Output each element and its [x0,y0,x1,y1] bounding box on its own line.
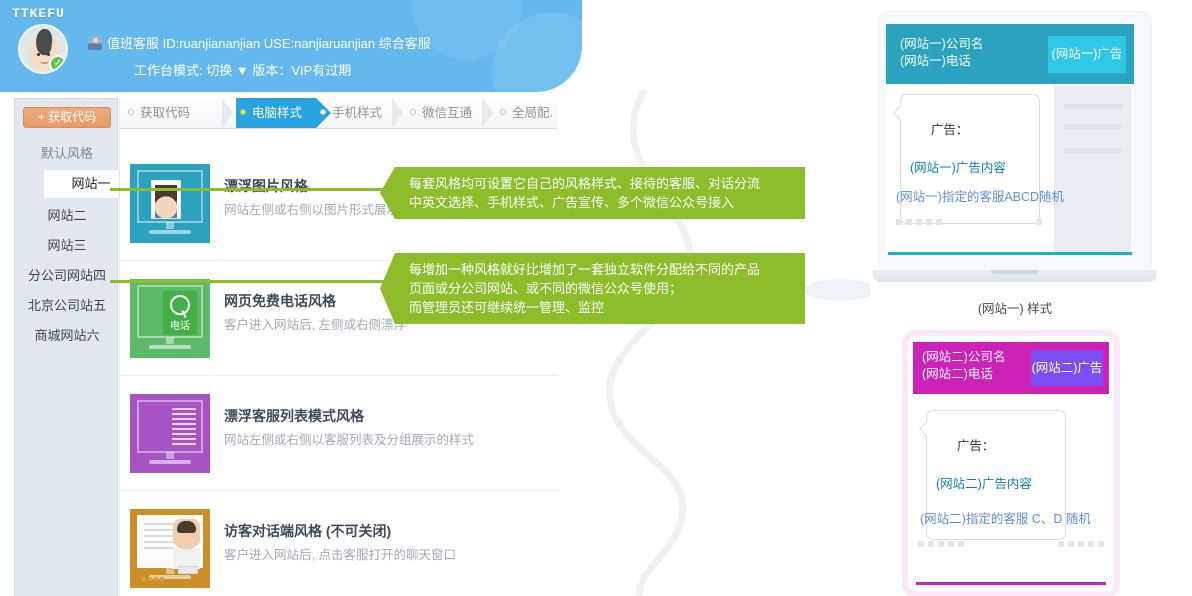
site2-bubble-body: (网站二)广告内容 [936,475,1056,494]
site2-dots-left [918,534,968,540]
preview-dots-right [1036,212,1046,218]
agent-avatar-icon [88,36,102,50]
app-logo: TTKEFU [12,6,65,21]
app-root: TTKEFU ✓ 值班客服 ID:ruanjiananjian USE:nanj… [0,0,1192,596]
tab-separator-icon [222,98,233,128]
radio-icon [128,109,134,115]
site2-preview-window: (网站二)公司名 (网站二)电话 (网站二)广告 广告： (网站二)广告内容 (… [908,336,1114,592]
avatar-eye-right [47,53,50,56]
style-desc: 客户进入网站后, 点击客服打开的聊天窗口 [224,544,456,563]
agent-info-text: 值班客服 ID:ruanjiananjian USE:nanjiaruanjia… [107,36,431,51]
radio-icon [240,109,246,115]
radio-icon [410,109,416,115]
avatar[interactable]: ✓ [18,24,68,74]
tab-bar: 获取代码 电脑样式 手机样式 微信互通 [120,98,558,129]
sidebar-item-site5[interactable]: 北京公司站五 [15,291,119,321]
site2-bubble-title: 广告： [957,439,995,453]
preview-agent-line: (网站一)指定的客服ABCD随机 [896,186,1064,205]
style-desc: 客户进入网站后, 左侧或右侧漂浮 [224,314,406,333]
tab-label: 电脑样式 [252,106,302,120]
check-circle-icon: ✓ [49,55,67,73]
site2-bottom-accent [916,582,1106,585]
callout-1: 每套风格均可设置它自己的风格样式、接待的客服、对话分流 中英文选择、手机样式、广… [395,167,805,219]
sidebar-item-site4[interactable]: 分公司网站四 [15,261,119,291]
style-row-agent-list[interactable]: 漂浮客服列表模式风格 网站左侧或右侧以客服列表及分组展示的样式 [120,376,558,491]
site2-company: (网站二)公司名 (网站二)电话 [922,349,1005,383]
get-code-button[interactable]: + 获取代码 [23,107,111,128]
monitor-list-icon [130,394,210,473]
style-desc: 网站左侧或右侧以图片形式展示 [224,199,399,218]
callout-2: 每增加一种风格就好比增加了一套独立软件分配给不同的产品 页面或分公司网站、或不同… [395,253,805,324]
site2-dots-right [1058,534,1108,540]
tab-wechat[interactable]: 微信互通 [406,98,486,128]
desktop-preview-window: (网站一)公司名 (网站一)电话 (网站一)广告 广告： (网站一)广告内容 (… [886,24,1134,256]
style-row-visitor-chat[interactable]: 访客对话端风格 (不可关闭) 客户进入网站后, 点击客服打开的聊天窗口 [120,491,558,596]
radio-icon [320,109,326,115]
tab-get-code[interactable]: 获取代码 [124,98,204,128]
sidebar-item-site3[interactable]: 网站三 [15,231,119,261]
site2-title-bar: (网站二)公司名 (网站二)电话 (网站二)广告 [913,342,1109,394]
decorative-wave-divider [540,90,870,596]
style-sidebar: + 获取代码 默认风格 网站一 ✾ 网站二 网站三 分公司网站四 北京公司站五 … [14,98,118,596]
app-header: TTKEFU ✓ 值班客服 ID:ruanjiananjian USE:nanj… [0,0,582,92]
style-title: 访客对话端风格 (不可关闭) [224,521,391,541]
workbench-mode-line[interactable]: 工作台模式: 切换 ▼ 版本：VIP有过期 [134,60,351,79]
callout-connector-line-2 [110,280,395,283]
desktop-preview-caption: (网站一) 样式 [873,298,1157,317]
laptop-base [873,270,1157,282]
tab-label: 微信互通 [422,106,472,120]
monitor-photo-icon [130,164,210,243]
tab-separator-icon [482,98,493,128]
site2-ad-tab[interactable]: (网站二)广告 [1031,350,1103,386]
preview-bottom-accent [888,252,1132,255]
tab-label: 手机样式 [332,106,382,120]
tab-label: 获取代码 [140,106,190,120]
style-title: 网页免费电话风格 [224,291,336,311]
tab-mobile-style[interactable]: 手机样式 [316,98,396,128]
preview-bubble-body: (网站一)广告内容 [910,159,1030,178]
tab-desktop-style[interactable]: 电脑样式 [236,98,316,128]
style-desc: 网站左侧或右侧以客服列表及分组展示的样式 [224,429,474,448]
agent-info-line: 值班客服 ID:ruanjiananjian USE:nanjiaruanjia… [88,33,431,52]
site2-agent-line: (网站二)指定的客服 C、D 随机 [920,508,1091,527]
monitor-phone-icon: 电话 [130,279,210,358]
tab-separator-icon [392,98,403,128]
sidebar-item-site6[interactable]: 商城网站六 [15,321,119,351]
style-title: 漂浮图片风格 [224,176,308,196]
preview-title-bar: (网站一)公司名 (网站一)电话 (网站一)广告 [886,24,1134,84]
style-title: 漂浮客服列表模式风格 [224,406,364,426]
preview-company: (网站一)公司名 (网站一)电话 [900,36,983,70]
preview-ad-tab[interactable]: (网站一)广告 [1048,36,1126,73]
sidebar-item-default[interactable]: 默认风格 [15,139,119,169]
avatar-eye-left [37,53,40,56]
sidebar-item-site2[interactable]: 网站二 [15,201,119,231]
preview-dots-left [896,212,946,218]
monitor-chat-icon [130,509,210,588]
preview-side-column [1055,86,1131,254]
radio-icon [500,109,506,115]
sidebar-item-label: 网站一 [71,176,110,191]
preview-bubble-title: 广告： [931,123,969,137]
callout-connector-line-1 [110,188,395,191]
